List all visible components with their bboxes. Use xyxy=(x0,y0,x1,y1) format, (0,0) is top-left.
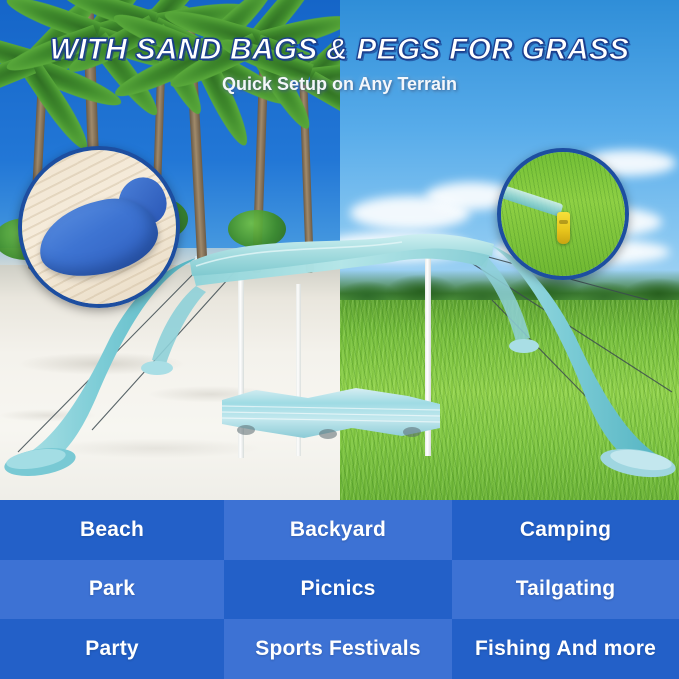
use-case-cell-beach[interactable]: Beach xyxy=(0,500,224,560)
headline-block: WITH SAND BAGS & PEGS FOR GRASS Quick Se… xyxy=(0,34,679,95)
use-case-cell-camping[interactable]: Camping xyxy=(452,500,679,560)
sand-bag-callout-background xyxy=(22,150,176,304)
use-case-cell-picnics[interactable]: Picnics xyxy=(224,560,452,620)
page-subtitle: Quick Setup on Any Terrain xyxy=(0,74,679,95)
use-case-cell-backyard[interactable]: Backyard xyxy=(224,500,452,560)
ground-peg-icon xyxy=(557,212,570,244)
sand-bag-set xyxy=(216,386,444,442)
use-case-cell-party[interactable]: Party xyxy=(0,619,224,679)
sand-bag-callout xyxy=(18,146,180,308)
grass-peg-callout xyxy=(497,148,629,280)
guy-line xyxy=(497,182,563,217)
cloud xyxy=(340,232,470,262)
use-case-cell-tailgating[interactable]: Tailgating xyxy=(452,560,679,620)
product-feature-image: WITH SAND BAGS & PEGS FOR GRASS Quick Se… xyxy=(0,0,679,679)
use-case-grid: Beach Backyard Camping Park Picnics Tail… xyxy=(0,500,679,679)
use-case-cell-sports-festivals[interactable]: Sports Festivals xyxy=(224,619,452,679)
grass-peg-callout-background xyxy=(501,152,625,276)
use-case-cell-park[interactable]: Park xyxy=(0,560,224,620)
use-case-cell-fishing[interactable]: Fishing And more xyxy=(452,619,679,679)
page-title: WITH SAND BAGS & PEGS FOR GRASS xyxy=(0,34,679,66)
